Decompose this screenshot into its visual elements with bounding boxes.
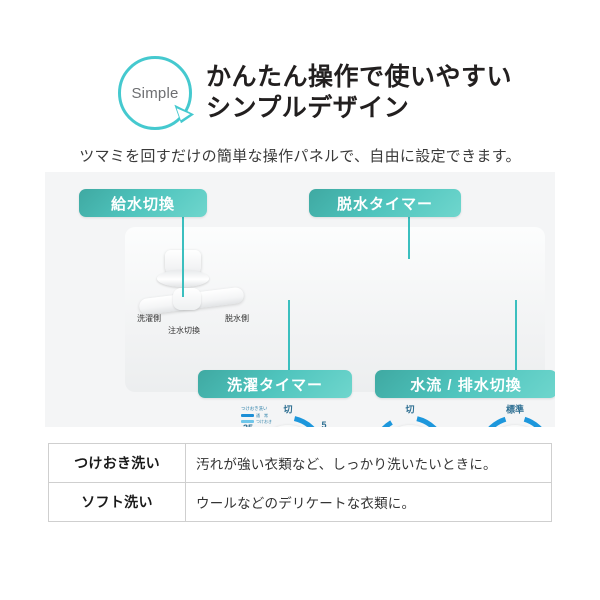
headline-line-2: シンプルデザイン — [206, 93, 512, 124]
dial-wash-timer[interactable]: 切 5 10 15 21 28 35 洗濯タイマー — [245, 412, 331, 427]
simple-badge-label: Simple — [131, 85, 178, 102]
callout-wash-timer: 洗濯タイマー — [198, 370, 352, 398]
flow-tick-standard: 標準 — [506, 403, 524, 416]
callout-spin-timer: 脱水タイマー — [309, 189, 461, 217]
page-title: かんたん操作で使いやすい シンプルデザイン — [206, 62, 512, 124]
leader-wash-timer — [288, 300, 290, 372]
lever-label-spin-side: 脱水側 — [225, 313, 249, 324]
lever-label-wash-side: 洗濯側 — [137, 313, 161, 324]
table-row: つけおき洗い 汚れが強い衣類など、しっかり洗いたいときに。 — [48, 443, 552, 483]
spin-tick-1: 1 — [449, 426, 454, 427]
dial-flow-drain[interactable]: 標準 排水 ソフト 水流・排水切換 — [472, 412, 555, 427]
table-row-label: つけおき洗い — [49, 444, 186, 482]
lever-label-center: 注水切換 — [168, 325, 200, 336]
subtitle-text: ツマミを回すだけの簡単な操作パネルで、自由に設定できます。 — [0, 145, 600, 166]
wash-tick-35: 35 — [243, 423, 253, 427]
spin-tick-5: 5 — [364, 426, 369, 427]
wash-mode-table: つけおき洗い 汚れが強い衣類など、しっかり洗いたいときに。 ソフト洗い ウールな… — [48, 443, 552, 522]
callout-water-supply: 給水切換 — [79, 189, 207, 217]
wash-tick-off: 切 — [283, 403, 292, 416]
table-row-desc: ウールなどのデリケートな衣類に。 — [186, 483, 425, 521]
water-supply-lever: 洗濯側 注水切換 脱水側 — [133, 250, 253, 335]
leader-spin-timer — [408, 217, 410, 259]
wash-tick-5: 5 — [321, 420, 326, 427]
callout-flow-drain: 水流 / 排水切換 — [375, 370, 555, 398]
headline-line-1: かんたん操作で使いやすい — [206, 62, 512, 93]
product-feature-page: Simple かんたん操作で使いやすい シンプルデザイン ツマミを回すだけの簡単… — [0, 0, 600, 600]
leader-water-supply — [182, 217, 184, 297]
simple-badge: Simple — [118, 56, 192, 130]
table-row-desc: 汚れが強い衣類など、しっかり洗いたいときに。 — [186, 444, 507, 482]
table-row: ソフト洗い ウールなどのデリケートな衣類に。 — [48, 483, 552, 522]
table-row-label: ソフト洗い — [49, 483, 186, 521]
lever-cap — [173, 288, 201, 310]
control-panel-photo: 洗濯側 注水切換 脱水側 つけおき洗い 通 常 つけおき — [45, 172, 555, 427]
leader-flow-drain — [515, 300, 517, 372]
headline-block: Simple かんたん操作で使いやすい シンプルデザイン — [118, 56, 512, 130]
dial-spin-timer[interactable]: 切 1 2 3 4 5 脱水タイマー — [367, 412, 453, 427]
spin-tick-off: 切 — [405, 403, 414, 416]
